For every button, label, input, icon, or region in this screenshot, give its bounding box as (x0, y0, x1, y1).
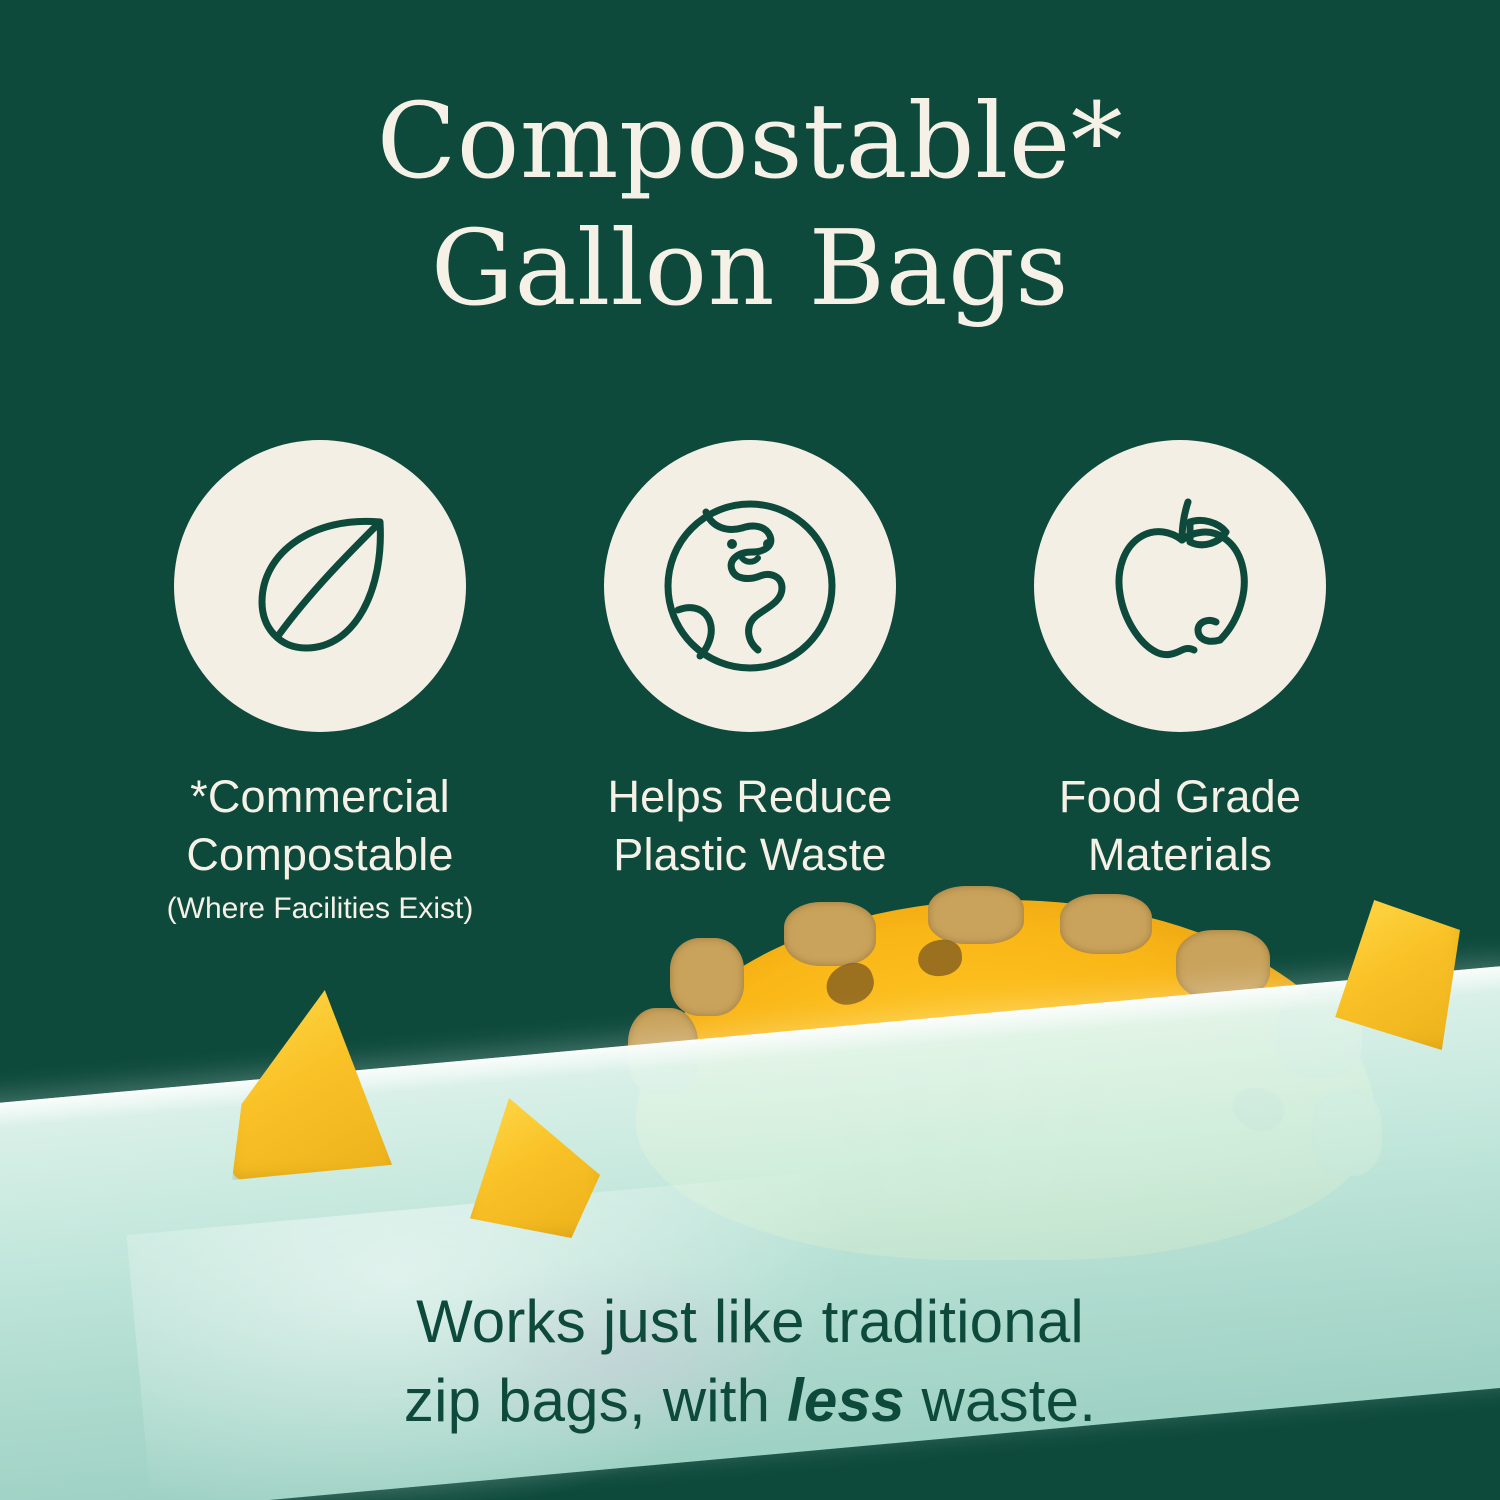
tagline-line-2: zip bags, with less waste. (0, 1361, 1500, 1440)
page-title: Compostable* Gallon Bags (0, 78, 1500, 332)
headline-line-1: Compostable* (0, 78, 1500, 205)
tagline-emphasis: less (787, 1367, 905, 1434)
product-infographic: Compostable* Gallon Bags *Commercial Com… (0, 0, 1500, 1500)
tagline-line-2-before: zip bags, with (404, 1367, 787, 1434)
headline-line-2: Gallon Bags (0, 205, 1500, 332)
benefit-item-compostable: *Commercial Compostable (Where Facilitie… (120, 440, 520, 927)
globe-icon (604, 440, 896, 732)
tagline: Works just like traditional zip bags, wi… (0, 1282, 1500, 1440)
tagline-line-2-after: waste. (905, 1367, 1096, 1434)
apple-icon (1034, 440, 1326, 732)
leaf-icon (174, 440, 466, 732)
benefit-item-food-grade: Food Grade Materials (980, 440, 1380, 927)
tagline-line-1: Works just like traditional (0, 1282, 1500, 1361)
benefits-row: *Commercial Compostable (Where Facilitie… (120, 440, 1380, 927)
benefit-item-plastic-waste: Helps Reduce Plastic Waste (550, 440, 950, 927)
